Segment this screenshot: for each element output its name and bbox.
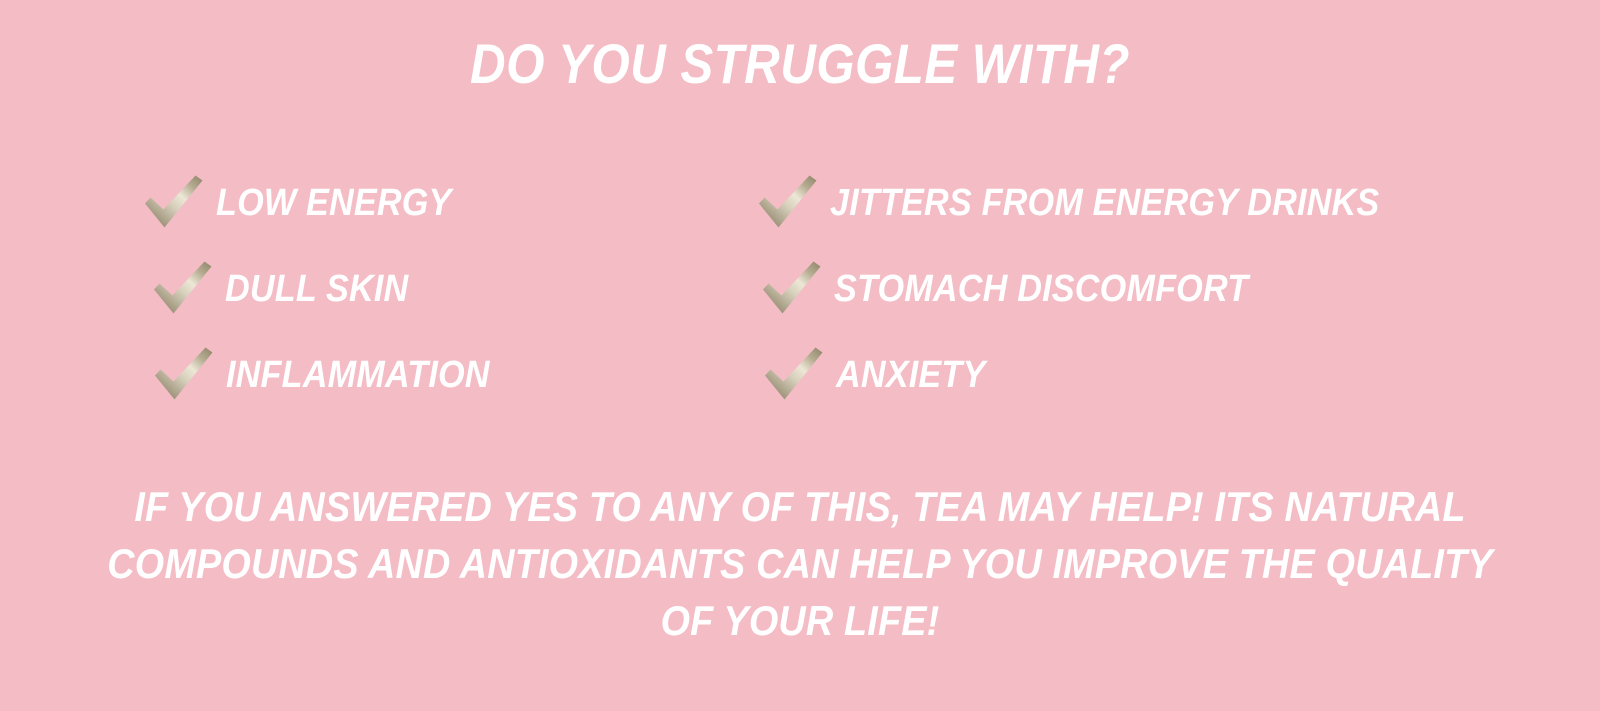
list-item: INFLAMMATION <box>138 332 758 418</box>
list-item-label: STOMACH DISCOMFORT <box>834 268 1248 310</box>
page-title: DO YOU STRUGGLE WITH? <box>96 31 1504 97</box>
list-item: ANXIETY <box>752 332 1542 418</box>
list-item: LOW ENERGY <box>138 160 758 246</box>
check-mark-icon <box>758 337 830 409</box>
check-mark-icon <box>148 337 220 409</box>
check-mark-icon <box>756 251 828 323</box>
list-item: STOMACH DISCOMFORT <box>752 246 1542 332</box>
tagline-line-1: IF YOU ANSWERED YES TO ANY OF THIS, TEA … <box>80 478 1520 535</box>
checklist-column-right: JITTERS FROM ENERGY DRINKS <box>752 160 1542 418</box>
check-mark-icon <box>138 165 210 237</box>
list-item-label: INFLAMMATION <box>226 354 490 396</box>
list-item: JITTERS FROM ENERGY DRINKS <box>752 160 1542 246</box>
symptom-checklist: LOW ENERGY <box>0 160 1600 420</box>
list-item-label: ANXIETY <box>836 354 985 396</box>
tagline-line-3: OF YOUR LIFE! <box>80 592 1520 649</box>
checklist-column-left: LOW ENERGY <box>138 160 758 418</box>
tagline-block: IF YOU ANSWERED YES TO ANY OF THIS, TEA … <box>0 478 1600 649</box>
list-item-label: LOW ENERGY <box>216 182 452 224</box>
list-item: DULL SKIN <box>138 246 758 332</box>
tagline-line-2: COMPOUNDS AND ANTIOXIDANTS CAN HELP YOU … <box>80 535 1520 592</box>
list-item-label: DULL SKIN <box>225 268 408 310</box>
check-mark-icon <box>147 251 219 323</box>
promo-poster: DO YOU STRUGGLE WITH? <box>0 0 1600 711</box>
check-mark-icon <box>752 165 824 237</box>
list-item-label: JITTERS FROM ENERGY DRINKS <box>830 182 1379 224</box>
